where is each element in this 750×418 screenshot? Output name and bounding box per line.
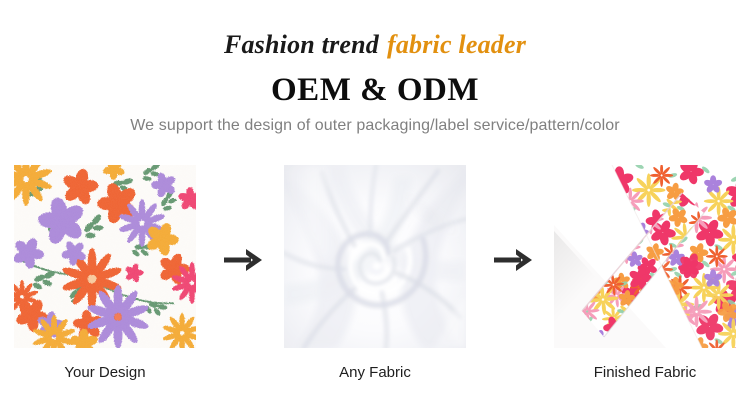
image-your-design [14,165,196,348]
image-any-fabric [284,165,466,348]
image-finished-fabric [554,165,736,348]
page-subtitle: We support the design of outer packaging… [0,115,750,137]
oem-odm-banner: Fashion trendfabric leader OEM & ODM We … [0,0,750,418]
arrow-right-icon [222,243,266,277]
tagline: Fashion trendfabric leader [0,30,750,60]
tagline-accent-text: fabric leader [387,30,526,59]
tagline-primary-text: Fashion trend [224,30,379,59]
white-swirled-plain-fabric [284,165,466,348]
caption-any-fabric: Any Fabric [284,363,466,383]
page-title: OEM & ODM [0,71,750,109]
hand-drawn-floral-design-swatch [14,165,196,348]
arrow-right-icon-1 [222,243,266,277]
caption-finished-fabric: Finished Fabric [554,363,736,383]
printed-floral-finished-fabric-folded [554,165,736,348]
caption-your-design: Your Design [14,363,196,383]
arrow-right-icon-2 [492,243,536,277]
arrow-right-icon [492,243,536,277]
